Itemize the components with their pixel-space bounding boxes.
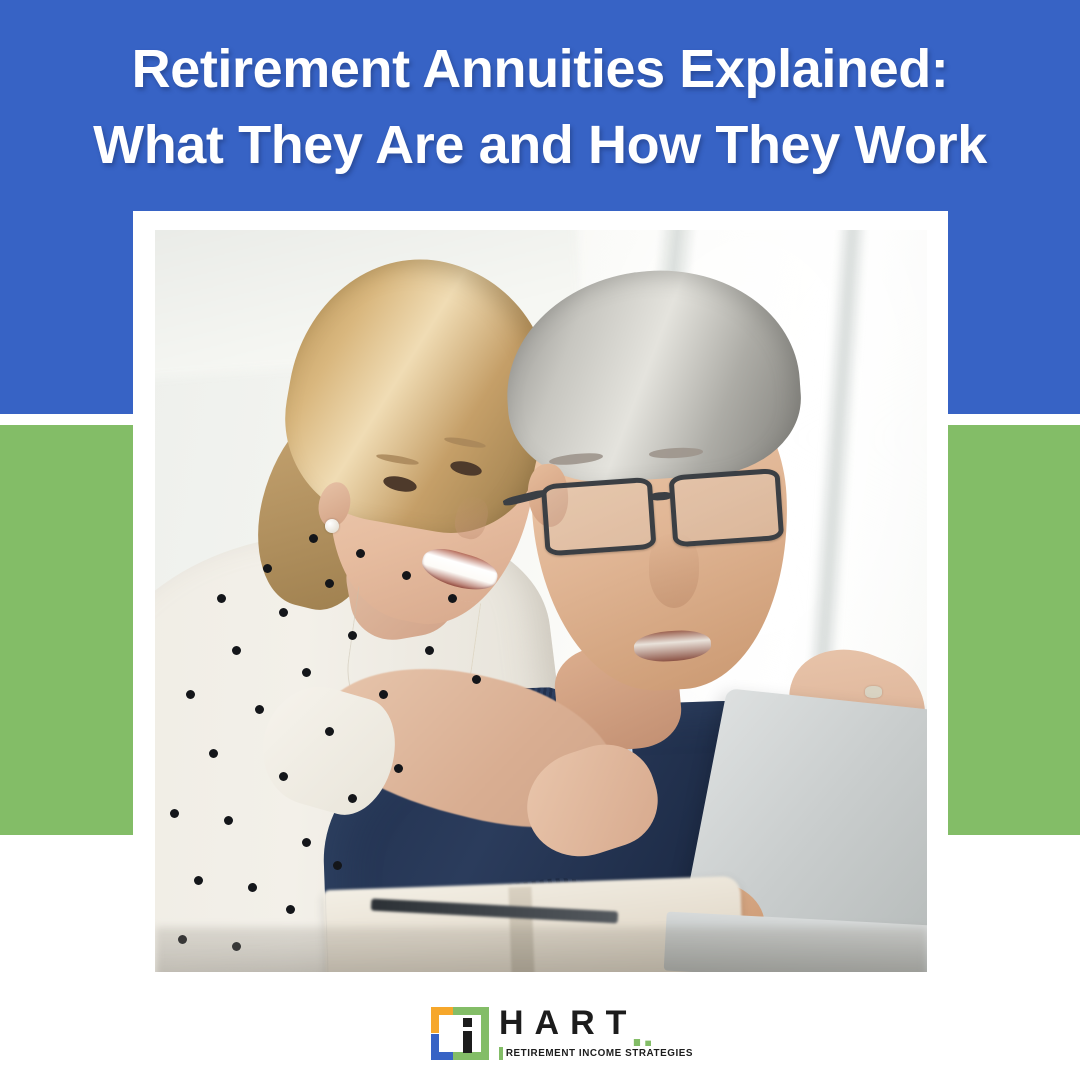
hero-photo-scene [155, 230, 927, 972]
brand-logo[interactable]: HART RETIREMENT INCOME STRATEGIES [0, 996, 1080, 1072]
logo-wordmark: HART [499, 1003, 637, 1043]
woman-earring [325, 519, 339, 532]
brand-logo-inner: HART RETIREMENT INCOME STRATEGIES [429, 1003, 651, 1065]
title-line-2: What They Are and How They Work [93, 107, 987, 183]
green-left-accent-block [0, 425, 133, 835]
blue-right-accent-block [948, 213, 1080, 414]
blue-left-accent-block [0, 213, 133, 414]
letter-i-dot-icon [463, 1018, 472, 1027]
eyeglasses-lens-right [668, 468, 784, 547]
logo-tagline: RETIREMENT INCOME STRATEGIES [503, 1046, 696, 1061]
hero-photo [155, 230, 927, 972]
woman-ring [865, 686, 882, 698]
title-line-1: Retirement Annuities Explained: [132, 31, 949, 107]
eyeglasses-lens-left [540, 477, 656, 556]
hart-key-bracket-icon [429, 1007, 491, 1061]
eyeglasses-bridge [649, 492, 672, 502]
desk-surface [155, 927, 927, 972]
letter-i-stem-icon [463, 1031, 472, 1053]
page-title: Retirement Annuities Explained: What The… [0, 0, 1080, 213]
green-right-accent-block [948, 425, 1080, 835]
